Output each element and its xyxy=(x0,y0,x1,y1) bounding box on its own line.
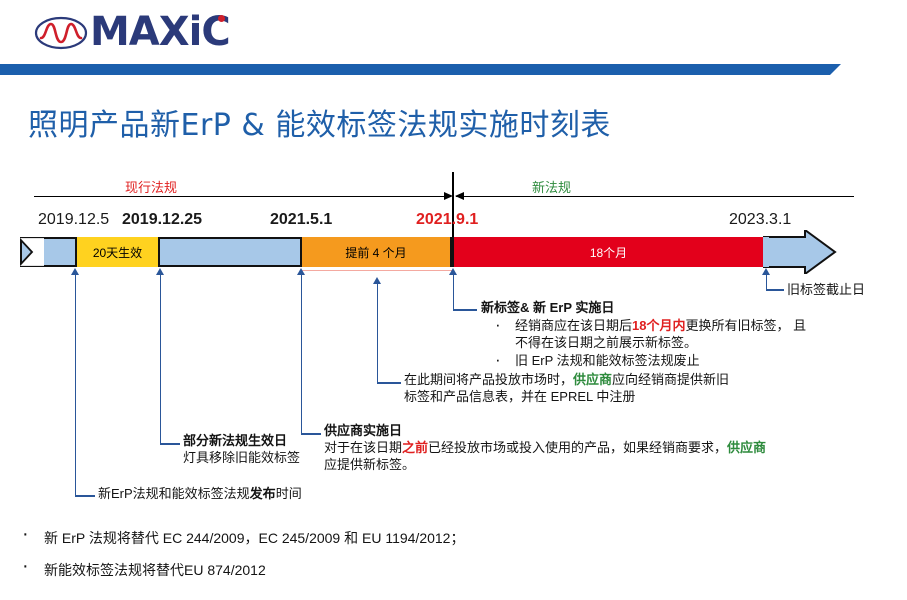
footer-bullet-0: 新 ErP 法规将替代 EC 244/2009，EC 245/2009 和 EU… xyxy=(0,528,907,548)
callout-supplier-before: 之前 xyxy=(402,440,428,455)
leader-line-period-h xyxy=(377,382,401,384)
date-label-3: 2021.9.1 xyxy=(416,211,478,229)
callout-period-part-b: 应向经销商提供新旧 xyxy=(612,372,729,387)
callout-new-label-bullets: 经销商应在该日期后18个月内更换所有旧标签， 且 不得在该日期之前展示新标签。 … xyxy=(481,317,881,369)
callout-supplier-line2: 应提供新标签。 xyxy=(324,456,834,473)
leader-line-publish-h xyxy=(75,495,95,497)
era-label-new: 新法规 xyxy=(532,177,571,196)
leader-line-supplier-v xyxy=(301,274,303,434)
leader-line-deadline-h xyxy=(766,289,784,291)
callout-supplier-green: 供应商 xyxy=(727,440,766,455)
leader-line-newlabel-v xyxy=(453,274,455,310)
bullet2-text: 旧 ErP 法规和能效标签法规废止 xyxy=(515,353,700,368)
callout-new-label: 新标签& 新 ErP 实施日 经销商应在该日期后18个月内更换所有旧标签， 且 … xyxy=(481,299,881,370)
date-label-2: 2021.5.1 xyxy=(270,211,332,229)
timeline-arrow-tip xyxy=(763,230,837,274)
footer-bullet-1: 新能效标签法规将替代EU 874/2012 xyxy=(0,560,907,580)
era-divider xyxy=(452,172,454,240)
timeline-segment-label-0: 20天生效 xyxy=(93,244,142,261)
footer-bullets: 新 ErP 法规将替代 EC 244/2009，EC 245/2009 和 EU… xyxy=(0,528,907,592)
leader-line-deadline-v xyxy=(766,274,768,290)
logo-svg xyxy=(34,12,88,52)
bullet1-highlight: 18个月内 xyxy=(632,318,685,333)
brand-name: MAXiC xyxy=(90,12,230,52)
timeline-segment-label-1: 提前 4 个月 xyxy=(345,244,406,261)
callout-publish-bold: 发布 xyxy=(250,486,276,501)
leader-line-newlabel-h xyxy=(453,309,477,311)
callout-old-label-deadline-text: 旧标签截止日 xyxy=(787,282,865,297)
callout-supplier-part-b: 已经投放市场或投入使用的产品，如果经销商要求， xyxy=(428,440,727,455)
date-label-4: 2023.3.1 xyxy=(729,211,791,229)
callout-new-label-title: 新标签& 新 ErP 实施日 xyxy=(481,300,614,315)
callout-period-line2: 标签和产品信息表，并在 EPREL 中注册 xyxy=(404,388,824,405)
callout-period: 在此期间将产品投放市场时，供应商应向经销商提供新旧 标签和产品信息表，并在 EP… xyxy=(404,371,824,405)
timeline-segment-20days: 20天生效 xyxy=(75,237,160,267)
timeline-bar: 20天生效 提前 4 个月 18个月 xyxy=(20,237,835,267)
bullet1-line2: 不得在该日期之前展示新标签。 xyxy=(515,335,697,350)
brand-logo: MAXiC xyxy=(34,12,230,52)
callout-publish: 新ErP法规和能效标签法规发布时间 xyxy=(98,485,418,502)
header-rule xyxy=(0,64,830,75)
timeline-segment-4months: 提前 4 个月 xyxy=(300,237,452,267)
leader-line-partial-h xyxy=(160,443,180,445)
page-title: 照明产品新ErP & 能效标签法规实施时刻表 xyxy=(28,100,611,144)
current-era-line xyxy=(34,196,450,197)
timeline-left-notch xyxy=(20,237,44,267)
bullet1-part-a: 经销商应在该日期后 xyxy=(515,318,632,333)
date-label-0: 2019.12.5 xyxy=(38,211,109,229)
leader-line-period-v xyxy=(377,283,379,383)
leader-line-publish-v xyxy=(75,274,77,496)
date-label-1: 2019.12.25 xyxy=(122,211,202,229)
callout-partial-title: 部分新法规生效日 xyxy=(183,433,287,448)
callout-new-label-bullet-2: 旧 ErP 法规和能效标签法规废止 xyxy=(481,352,881,369)
leader-line-partial-v xyxy=(160,274,162,444)
callout-partial-body: 灯具移除旧能效标签 xyxy=(183,449,363,466)
bullet1-part-b: 更换所有旧标签， 且 xyxy=(685,318,806,333)
new-era-arrowhead xyxy=(455,192,464,200)
timeline-segment-18months: 18个月 xyxy=(452,237,765,267)
callout-period-supplier: 供应商 xyxy=(573,372,612,387)
callout-new-label-bullet-1: 经销商应在该日期后18个月内更换所有旧标签， 且 不得在该日期之前展示新标签。 xyxy=(481,317,881,351)
logo-accent-dot xyxy=(218,15,225,22)
maxic-waveform-oval-logo xyxy=(34,12,88,52)
new-era-line xyxy=(456,196,854,197)
timeline-segment-label-2: 18个月 xyxy=(590,244,627,261)
current-era-arrowhead xyxy=(444,192,453,200)
callout-publish-text: 新ErP法规和能效标签法规发布时间 xyxy=(98,486,302,501)
callout-supplier: 供应商实施日 对于在该日期之前已经投放市场或投入使用的产品，如果经销商要求，供应… xyxy=(324,422,834,473)
era-label-current: 现行法规 xyxy=(125,177,177,196)
lead-time-connector xyxy=(301,270,453,271)
callout-old-label-deadline: 旧标签截止日 xyxy=(787,281,865,298)
callout-period-part-a: 在此期间将产品投放市场时， xyxy=(404,372,573,387)
slide-canvas: MAXiC 照明产品新ErP & 能效标签法规实施时刻表 现行法规 新法规 20… xyxy=(0,0,907,600)
callout-partial: 部分新法规生效日 灯具移除旧能效标签 xyxy=(183,432,363,466)
